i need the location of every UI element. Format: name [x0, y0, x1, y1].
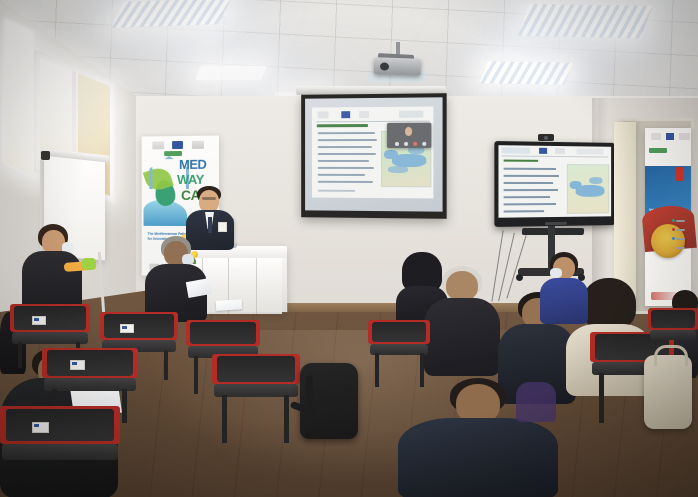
- chair-leg: [420, 353, 424, 387]
- tv-screen: [498, 145, 611, 218]
- ceiling-light-icon: [479, 61, 573, 85]
- attendee-right-back: [540, 252, 588, 322]
- chair-leg: [222, 395, 227, 443]
- projection-screen: [301, 93, 446, 219]
- chair-leg: [375, 353, 379, 387]
- ceiling-light-icon: [195, 66, 267, 80]
- chair-asset-tag: [120, 324, 134, 333]
- sea-shape: [589, 177, 602, 184]
- ceiling-light-icon: [518, 4, 653, 38]
- video-call-window: [387, 123, 431, 148]
- poster-logo-row: [649, 131, 687, 142]
- sea-shape: [384, 150, 398, 159]
- tv-slide-divider: [502, 155, 609, 157]
- eu-flag-logo-icon: [172, 141, 183, 149]
- partner-logo-icon: [192, 141, 204, 149]
- chair-asset-tag: [32, 316, 46, 325]
- chair-seat: [2, 444, 118, 460]
- chair-back: [372, 322, 426, 342]
- banner-word-med: MED: [179, 158, 206, 171]
- torso: [516, 382, 556, 422]
- torso: [398, 418, 558, 497]
- eu-flag-logo-icon: [341, 111, 350, 118]
- chair-back: [14, 306, 86, 330]
- chair-asset-tag: [70, 360, 85, 370]
- black-backpack[interactable]: [300, 363, 358, 439]
- slide-text-line: [318, 160, 369, 162]
- chair-back: [190, 322, 256, 344]
- banner-logo-row: [146, 139, 213, 152]
- chair-leg: [122, 389, 127, 423]
- slide-logo-icon: [359, 111, 369, 118]
- tv-slide-line: [504, 210, 544, 212]
- chair-leg: [599, 373, 604, 423]
- chair-asset-tag: [32, 422, 49, 433]
- chair-leg: [284, 395, 289, 443]
- poster-brand-bar: [649, 148, 667, 153]
- slide-text-line: [318, 139, 377, 141]
- tv-slide-line: [504, 168, 556, 170]
- chair-back: [217, 356, 295, 382]
- chair-back: [6, 409, 114, 441]
- poster-logo-icon: [651, 133, 661, 140]
- torso: [540, 278, 588, 324]
- chair-seat: [650, 330, 696, 340]
- seminar-room-photo: MED WAY CAP The Mediterranean Pathway fo…: [0, 0, 698, 497]
- held-object: [82, 258, 96, 270]
- glasses-icon: [202, 197, 216, 200]
- tv-slide-line: [504, 175, 559, 177]
- eu-flag-logo-icon: [539, 148, 547, 154]
- chair-leg: [164, 350, 168, 380]
- chair-back: [651, 310, 695, 328]
- webcam-lens: [544, 136, 548, 140]
- attendee-center-grey: [424, 266, 500, 374]
- tv-slide-logo-icon: [577, 148, 604, 154]
- chair-leg: [194, 356, 198, 394]
- projection-screen-surface: [305, 97, 442, 211]
- slide-logo-icon: [399, 111, 423, 118]
- projector-lens: [380, 62, 389, 70]
- torso: [424, 298, 500, 376]
- necktie: [208, 217, 212, 233]
- partner-logo-icon: [152, 141, 164, 149]
- chair-leg: [18, 342, 22, 368]
- beige-tote-bag[interactable]: [644, 355, 692, 429]
- presentation-slide: [312, 106, 434, 198]
- caster-wheel: [516, 274, 523, 281]
- tv-brand-label: [545, 222, 567, 225]
- slide-title-bar: [317, 124, 368, 127]
- head: [446, 271, 478, 301]
- slide-text-line: [318, 132, 375, 134]
- tv-slide-line: [504, 196, 550, 198]
- slide-text-line: [318, 153, 376, 155]
- chair[interactable]: [212, 352, 300, 444]
- chair-back: [104, 314, 174, 338]
- tv-slide-logo-icon: [502, 147, 530, 153]
- tv-slide-line: [504, 189, 558, 191]
- slide-text-line: [318, 190, 355, 192]
- backpack-strap: [306, 375, 313, 425]
- slide-text-line: [318, 174, 365, 176]
- eu-flag-logo-icon: [666, 133, 674, 140]
- slide-text-line: [318, 167, 374, 169]
- attendee-left-mid: [145, 236, 207, 320]
- slide-text-line: [318, 146, 372, 148]
- call-control-dot: [404, 142, 408, 146]
- slide-text-line: [318, 181, 373, 183]
- slide-logo-icon: [318, 111, 329, 118]
- chair[interactable]: [368, 318, 430, 388]
- chair[interactable]: [0, 406, 120, 497]
- hair: [582, 278, 636, 330]
- tv-slide-logo-icon: [555, 148, 565, 154]
- projector-icon: [374, 57, 422, 76]
- tv-slide-title: [504, 160, 538, 162]
- call-control-dot: [395, 142, 399, 146]
- tv-slide-line: [504, 182, 553, 184]
- poster-logo-icon: [679, 133, 690, 140]
- paper-sheet: [216, 299, 243, 311]
- chair-back: [47, 350, 133, 376]
- sea-shape: [388, 166, 408, 173]
- slide-logo-row: [316, 110, 430, 121]
- tv-monitor: [494, 141, 615, 227]
- attendee-left-front: [22, 224, 82, 310]
- call-control-dot: [422, 142, 426, 146]
- sea-shape: [570, 181, 582, 189]
- tote-handle: [654, 345, 688, 366]
- flipchart-clip: [41, 151, 50, 160]
- name-badge: [218, 222, 227, 232]
- ceiling-light-icon: [111, 0, 231, 28]
- wall-switch-icon[interactable]: [676, 167, 683, 181]
- banner-word-way: WAY: [177, 173, 204, 186]
- tv-slide-line: [504, 203, 556, 205]
- participant-avatar: [405, 127, 412, 136]
- mediterranean-map-icon: [567, 164, 609, 214]
- face-mask-icon: [550, 268, 562, 278]
- call-end-dot: [413, 142, 417, 146]
- attendee-back-purple: [516, 382, 556, 422]
